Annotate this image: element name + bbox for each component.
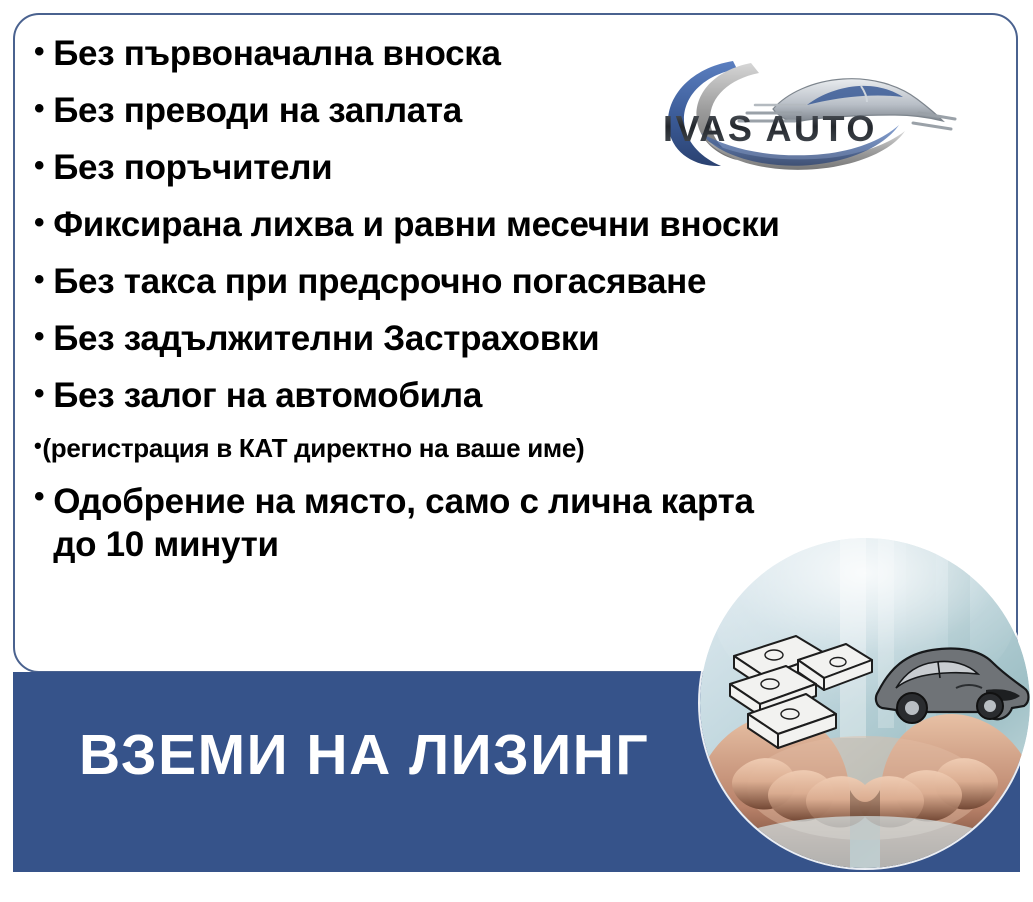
list-item-label: Без залог на автомобила: [53, 378, 482, 413]
bullet-icon: •: [34, 208, 44, 238]
bullet-icon: •: [34, 482, 44, 512]
list-item-note: • (регистрация в КАТ директно на ваше им…: [34, 435, 1024, 461]
list-item: • Без такса при предсрочно погасяване: [34, 264, 1024, 299]
list-item-label: Без такса при предсрочно погасяване: [53, 264, 706, 299]
logo-wordmark: IVAS AUTO: [663, 108, 877, 149]
bullet-icon: •: [34, 322, 44, 352]
ivas-auto-logo: IVAS AUTO: [655, 45, 965, 175]
list-item: • Фиксирана лихва и равни месечни вноски: [34, 207, 1024, 242]
list-item-label: Без първоначална вноска: [53, 36, 500, 71]
list-item-label: Без поръчители: [53, 150, 332, 185]
bullet-icon: •: [34, 265, 44, 295]
bullet-icon: •: [34, 379, 44, 409]
bullet-icon: •: [34, 94, 44, 124]
list-item-label: Фиксирана лихва и равни месечни вноски: [53, 207, 779, 242]
list-item-label: Одобрение на място, само с лична карта д…: [53, 481, 753, 566]
list-item-label: Без задължителни Застраховки: [53, 321, 599, 356]
hands-money-car-photo: [700, 538, 1030, 868]
leasing-advertisement: • Без първоначална вноска • Без преводи …: [0, 0, 1033, 902]
cta-label: ВЗЕМИ НА ЛИЗИНГ: [79, 727, 649, 784]
list-item-label: Без преводи на заплата: [53, 93, 462, 128]
bullet-icon: •: [34, 151, 44, 181]
bullet-icon: •: [34, 435, 41, 457]
list-item: • Без задължителни Застраховки: [34, 321, 1024, 356]
bullet-icon: •: [34, 37, 44, 67]
list-item: • Без залог на автомобила: [34, 378, 1024, 413]
list-item-label: (регистрация в КАТ директно на ваше име): [42, 435, 584, 461]
